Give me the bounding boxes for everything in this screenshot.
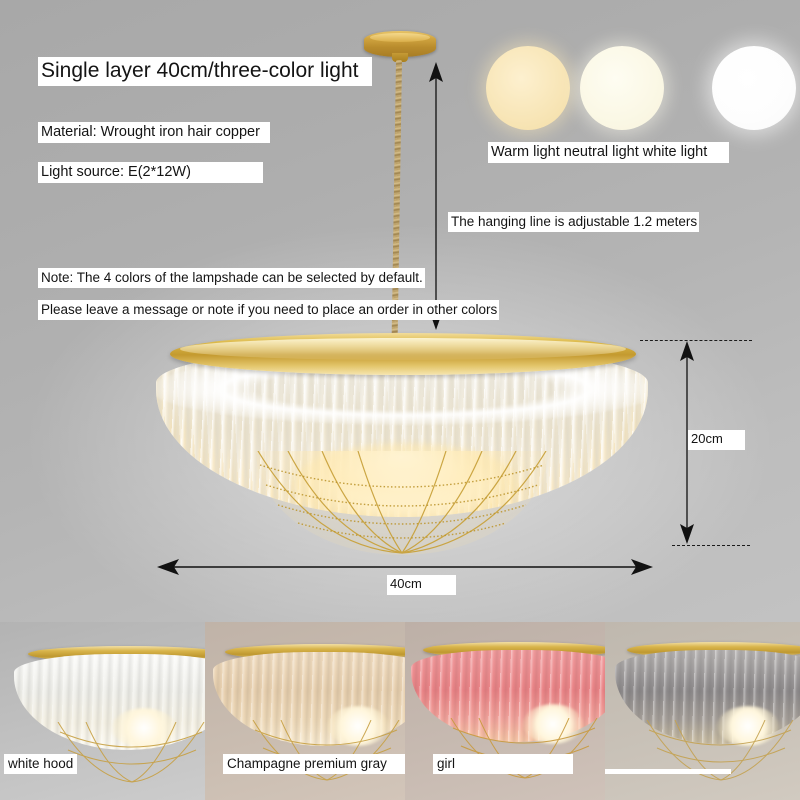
page-title: Single layer 40cm/three-color light	[38, 57, 372, 86]
ct-swatch-warm-light	[486, 46, 570, 130]
gold-chain-basket	[256, 451, 548, 555]
width-dimension-label: 40cm	[387, 575, 456, 595]
variant-champagne-premium-gray[interactable]: Champagne premium gray	[205, 622, 405, 800]
variant-label-champagne: Champagne premium gray	[223, 754, 405, 774]
variant-girl[interactable]: girl	[405, 622, 605, 800]
note-line-2: Please leave a message or note if you ne…	[38, 300, 499, 320]
height-dimension-label: 20cm	[688, 430, 745, 450]
note-line-1: Note: The 4 colors of the lampshade can …	[38, 268, 425, 288]
hanging-length-arrow	[418, 60, 454, 332]
chain-mesh-icon	[256, 451, 548, 555]
material-spec: Material: Wrought iron hair copper	[38, 122, 270, 143]
variant-label-girl: girl	[433, 754, 573, 774]
light-source-spec: Light source: E(2*12W)	[38, 162, 263, 183]
variant-gray[interactable]	[605, 622, 800, 800]
variant-label-white-hood: white hood	[4, 754, 77, 774]
hanging-line-note: The hanging line is adjustable 1.2 meter…	[448, 212, 699, 232]
variant-label-gray	[605, 769, 731, 774]
product-infographic: Single layer 40cm/three-color light Mate…	[0, 0, 800, 800]
chandelier-fixture	[152, 333, 652, 561]
variant-white-hood[interactable]: white hood	[0, 622, 205, 800]
hero-product-image: Single layer 40cm/three-color light Mate…	[0, 0, 800, 622]
ct-swatch-white-light	[712, 46, 796, 130]
color-variant-strip: white hood Champagne premium gray	[0, 622, 800, 800]
ct-swatch-neutral-light	[580, 46, 664, 130]
chain-mesh-icon	[56, 722, 205, 784]
color-temperature-label: Warm light neutral light white light	[488, 142, 729, 163]
gold-top-rim	[170, 333, 636, 375]
hanging-cord	[392, 60, 402, 338]
